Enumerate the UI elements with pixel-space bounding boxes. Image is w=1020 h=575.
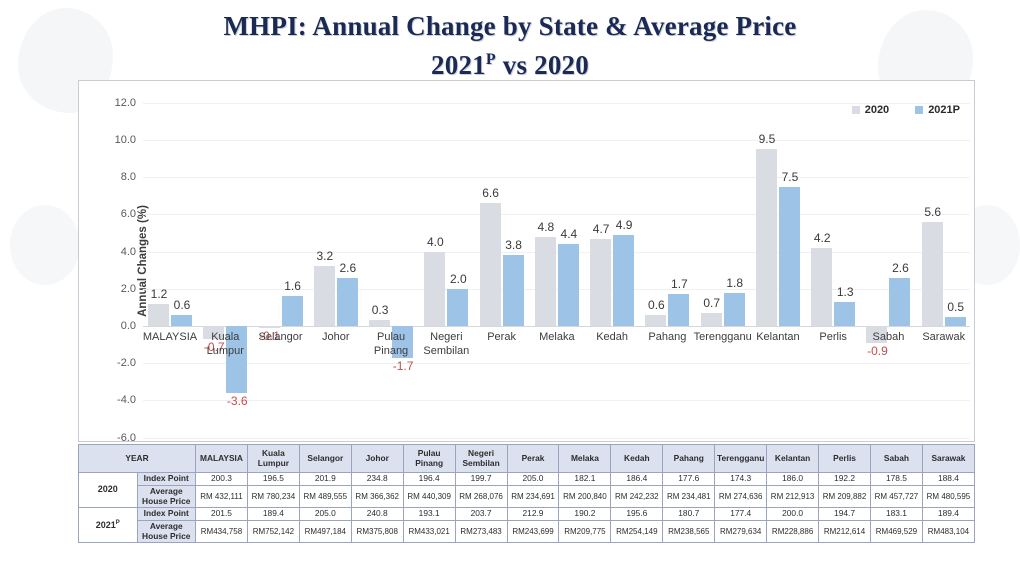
- table-cell-index-point: 201.5: [196, 508, 248, 521]
- bar-2021p: [558, 244, 579, 326]
- table-col-perlis: Perlis: [819, 445, 871, 473]
- table-cell-index-point: 177.4: [715, 508, 767, 521]
- bar-2021p: [779, 187, 800, 327]
- bar-value-label: -0.9: [854, 344, 900, 358]
- bar-2020: [369, 320, 390, 326]
- table-cell-average-house-price: RM 440,309: [403, 486, 455, 508]
- table-cell-index-point: 188.4: [922, 473, 974, 486]
- bar-2020: [590, 239, 611, 326]
- table-cell-index-point: 177.6: [663, 473, 715, 486]
- table-cell-average-house-price: RM254,149: [611, 521, 663, 543]
- table-rowlabel-average-house-price: AverageHouse Price: [137, 521, 196, 543]
- chart-panel: Annual Changes (%) 2020 2021P 12.010.08.…: [78, 80, 975, 442]
- table-cell-index-point: 240.8: [351, 508, 403, 521]
- bar-2021p: [337, 278, 358, 326]
- table-cell-index-point: 194.7: [819, 508, 871, 521]
- table-cell-average-house-price: RM243,699: [507, 521, 559, 543]
- table-cell-average-house-price: RM 234,691: [507, 486, 559, 508]
- table-cell-average-house-price: RM 457,727: [870, 486, 922, 508]
- bar-group: 4.21.3Perlis: [806, 81, 861, 441]
- bar-2020: [314, 266, 335, 326]
- bar-group: 1.20.6MALAYSIA: [143, 81, 198, 441]
- bar-group: 3.22.6Johor: [309, 81, 364, 441]
- table-col-malaysia: MALAYSIA: [196, 445, 248, 473]
- table-cell-index-point: 196.5: [247, 473, 299, 486]
- bar-group: 0.71.8Terengganu: [696, 81, 751, 441]
- title-line-1: MHPI: Annual Change by State & Average P…: [224, 11, 797, 41]
- table-cell-average-house-price: RM 366,362: [351, 486, 403, 508]
- bar-value-label: 0.5: [933, 300, 979, 314]
- table-cell-index-point: 189.4: [922, 508, 974, 521]
- table-cell-average-house-price: RM 212,913: [767, 486, 819, 508]
- table-col-kuala-lumpur: KualaLumpur: [247, 445, 299, 473]
- bar-2021p: [668, 294, 689, 326]
- bar-group: -0.7-3.6KualaLumpur: [198, 81, 253, 441]
- bar-2021p: [447, 289, 468, 326]
- table-col-johor: Johor: [351, 445, 403, 473]
- table-cell-average-house-price: RM 274,636: [715, 486, 767, 508]
- table-cell-index-point: 192.2: [819, 473, 871, 486]
- table-cell-average-house-price: RM 480,595: [922, 486, 974, 508]
- table-cell-index-point: 182.1: [559, 473, 611, 486]
- table-col-pahang: Pahang: [663, 445, 715, 473]
- title-vs-year: vs 2020: [496, 50, 589, 80]
- table-cell-index-point: 178.5: [870, 473, 922, 486]
- y-axis-tick: 10.0: [115, 134, 136, 146]
- table-cell-average-house-price: RM228,886: [767, 521, 819, 543]
- table-cell-index-point: 183.1: [870, 508, 922, 521]
- table-year-label: 2021P: [79, 508, 138, 543]
- table-cell-average-house-price: RM434,758: [196, 521, 248, 543]
- table-col-year: YEAR: [79, 445, 196, 473]
- table-rowlabel-index-point: Index Point: [137, 508, 196, 521]
- table-cell-index-point: 200.0: [767, 508, 819, 521]
- bar-group: 4.84.4Melaka: [530, 81, 585, 441]
- bar-group: 4.74.9Kedah: [585, 81, 640, 441]
- table-cell-index-point: 203.7: [455, 508, 507, 521]
- bar-group: -0.92.6Sabah: [861, 81, 916, 441]
- y-axis-tick: 2.0: [121, 283, 136, 295]
- bar-2020: [424, 252, 445, 326]
- table-cell-average-house-price: RM279,634: [715, 521, 767, 543]
- table-cell-index-point: 195.6: [611, 508, 663, 521]
- table-rowlabel-average-house-price: AverageHouse Price: [137, 486, 196, 508]
- table-cell-index-point: 193.1: [403, 508, 455, 521]
- bar-value-label: 5.6: [910, 205, 956, 219]
- bar-group: 6.63.8Perak: [475, 81, 530, 441]
- table-col-kedah: Kedah: [611, 445, 663, 473]
- bar-2021p: [282, 296, 303, 326]
- bar-value-label: 9.5: [744, 132, 790, 146]
- y-axis-tick: 8.0: [121, 171, 136, 183]
- bar-value-label: 0.3: [357, 303, 403, 317]
- bar-value-label: 6.6: [468, 186, 514, 200]
- bar-group: 4.02.0NegeriSembilan: [419, 81, 474, 441]
- title-superscript-p: P: [486, 51, 496, 68]
- table-cell-index-point: 205.0: [299, 508, 351, 521]
- table-cell-average-house-price: RM 432,111: [196, 486, 248, 508]
- table-rowlabel-index-point: Index Point: [137, 473, 196, 486]
- table-col-negeri-sembilan: NegeriSembilan: [455, 445, 507, 473]
- table-col-kelantan: Kelantan: [767, 445, 819, 473]
- y-axis-tick: -6.0: [117, 432, 136, 444]
- table-cell-index-point: 190.2: [559, 508, 611, 521]
- table-cell-index-point: 200.3: [196, 473, 248, 486]
- table-cell-average-house-price: RM483,104: [922, 521, 974, 543]
- table-cell-average-house-price: RM 242,232: [611, 486, 663, 508]
- y-axis-tick: -4.0: [117, 394, 136, 406]
- table-cell-index-point: 199.7: [455, 473, 507, 486]
- table-cell-average-house-price: RM209,775: [559, 521, 611, 543]
- table-cell-average-house-price: RM273,483: [455, 521, 507, 543]
- y-axis-tick: -2.0: [117, 357, 136, 369]
- table-cell-average-house-price: RM212,614: [819, 521, 871, 543]
- bar-2021p: [945, 317, 966, 326]
- table-cell-index-point: 189.4: [247, 508, 299, 521]
- table-cell-index-point: 196.4: [403, 473, 455, 486]
- table-cell-average-house-price: RM 200,840: [559, 486, 611, 508]
- bar-2020: [480, 203, 501, 326]
- bar-2020: [535, 237, 556, 326]
- table-cell-index-point: 186.4: [611, 473, 663, 486]
- plot-area: 12.010.08.06.04.02.00.0-2.0-4.0-6.01.20.…: [143, 81, 970, 441]
- table-cell-average-house-price: RM 234,481: [663, 486, 715, 508]
- table-body: 2020Index Point200.3196.5201.9234.8196.4…: [79, 473, 975, 543]
- table-header-row: YEARMALAYSIAKualaLumpurSelangorJohorPula…: [79, 445, 975, 473]
- table-col-sabah: Sabah: [870, 445, 922, 473]
- bar-group: 0.61.7Pahang: [640, 81, 695, 441]
- bar-2021p: [834, 302, 855, 326]
- bar-group: -0.11.6Selangor: [254, 81, 309, 441]
- table-cell-average-house-price: RM 489,555: [299, 486, 351, 508]
- table-cell-index-point: 201.9: [299, 473, 351, 486]
- table-col-pulau-pinang: PulauPinang: [403, 445, 455, 473]
- table-cell-average-house-price: RM 209,882: [819, 486, 871, 508]
- table-row: 2021PIndex Point201.5189.4205.0240.8193.…: [79, 508, 975, 521]
- y-axis-tick: 6.0: [121, 208, 136, 220]
- table-cell-index-point: 180.7: [663, 508, 715, 521]
- bar-2020: [259, 326, 280, 328]
- y-axis-tick: 12.0: [115, 97, 136, 109]
- table-col-melaka: Melaka: [559, 445, 611, 473]
- bar-2021p: [613, 235, 634, 326]
- table-col-selangor: Selangor: [299, 445, 351, 473]
- mhpi-data-table: YEARMALAYSIAKualaLumpurSelangorJohorPula…: [78, 444, 975, 543]
- table-row: AverageHouse PriceRM 432,111RM 780,234RM…: [79, 486, 975, 508]
- data-table-wrapper: YEARMALAYSIAKualaLumpurSelangorJohorPula…: [78, 444, 975, 543]
- title-line-2: 2021P vs 2020: [0, 43, 1020, 82]
- page-title: MHPI: Annual Change by State & Average P…: [0, 10, 1020, 82]
- bar-group: 0.3-1.7PulauPinang: [364, 81, 419, 441]
- x-axis-category-label: Sarawak: [906, 331, 982, 345]
- watermark-mid-left: [10, 205, 80, 285]
- table-cell-average-house-price: RM433,021: [403, 521, 455, 543]
- table-year-label: 2020: [79, 473, 138, 508]
- table-row: 2020Index Point200.3196.5201.9234.8196.4…: [79, 473, 975, 486]
- bar-2021p: [889, 278, 910, 326]
- table-cell-index-point: 234.8: [351, 473, 403, 486]
- bar-value-label: 4.2: [799, 231, 845, 245]
- bar-2021p: [503, 255, 524, 326]
- table-cell-average-house-price: RM238,565: [663, 521, 715, 543]
- table-row: AverageHouse PriceRM434,758RM752,142RM49…: [79, 521, 975, 543]
- bar-group: 9.57.5Kelantan: [751, 81, 806, 441]
- table-col-perak: Perak: [507, 445, 559, 473]
- bar-2021p: [171, 315, 192, 326]
- title-year-current: 2021: [431, 50, 486, 80]
- bar-2020: [701, 313, 722, 326]
- bar-value-label: 4.0: [412, 235, 458, 249]
- table-cell-average-house-price: RM497,184: [299, 521, 351, 543]
- table-col-terengganu: Terengganu: [715, 445, 767, 473]
- table-cell-index-point: 205.0: [507, 473, 559, 486]
- bar-2020: [645, 315, 666, 326]
- table-cell-average-house-price: RM375,808: [351, 521, 403, 543]
- table-cell-index-point: 174.3: [715, 473, 767, 486]
- table-col-sarawak: Sarawak: [922, 445, 974, 473]
- table-cell-average-house-price: RM 268,076: [455, 486, 507, 508]
- table-cell-average-house-price: RM752,142: [247, 521, 299, 543]
- table-cell-average-house-price: RM 780,234: [247, 486, 299, 508]
- bar-2021p: [724, 293, 745, 326]
- table-cell-average-house-price: RM469,529: [870, 521, 922, 543]
- y-axis-tick: 4.0: [121, 246, 136, 258]
- table-cell-index-point: 186.0: [767, 473, 819, 486]
- bar-group: 5.60.5Sarawak: [917, 81, 972, 441]
- table-cell-index-point: 212.9: [507, 508, 559, 521]
